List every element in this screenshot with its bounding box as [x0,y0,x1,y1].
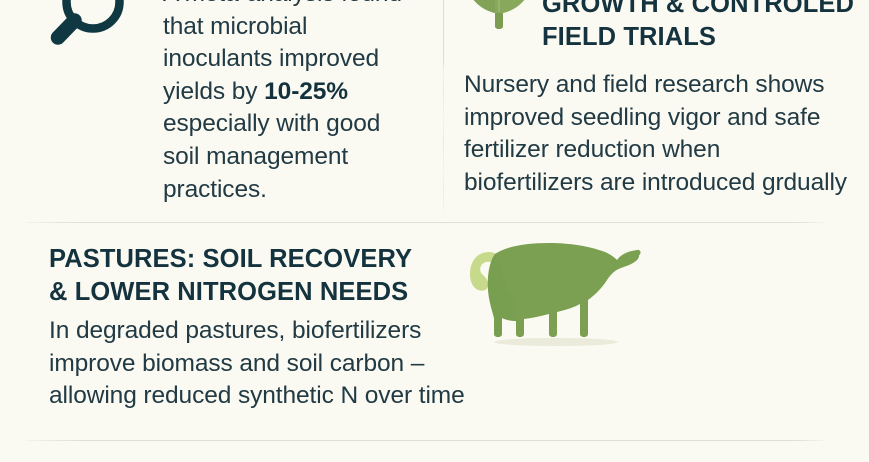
field-trials-heading: GROWTH & CONTROLED FIELD TRIALS [542,0,869,54]
meta-analysis-text-part-2: especially with good soil management pra… [163,110,380,202]
cow-icon [461,230,651,355]
magnifying-glass-icon [46,0,132,52]
pastures-body-text: In degraded pastures, biofertilizers imp… [49,315,469,413]
panel-field-trials: GROWTH & CONTROLED FIELD TRIALS Nursery … [444,0,869,220]
panel-meta-analysis: A meta-analysis found that microbial ino… [0,0,440,220]
meta-analysis-body-text: A meta-analysis found that microbial ino… [163,0,419,206]
divider-below-pastures [22,440,825,441]
panel-pastures: PASTURES: SOIL RECOVERY & LOWER NITROGEN… [0,223,869,439]
infographic-page: A meta-analysis found that microbial ino… [0,0,869,462]
meta-analysis-yield-figure: 10-25% [264,78,348,105]
field-trials-body-text: Nursery and field research shows improve… [464,69,869,199]
pastures-heading: PASTURES: SOIL RECOVERY & LOWER NITROGEN… [49,243,469,309]
leaf-icon [463,0,535,46]
